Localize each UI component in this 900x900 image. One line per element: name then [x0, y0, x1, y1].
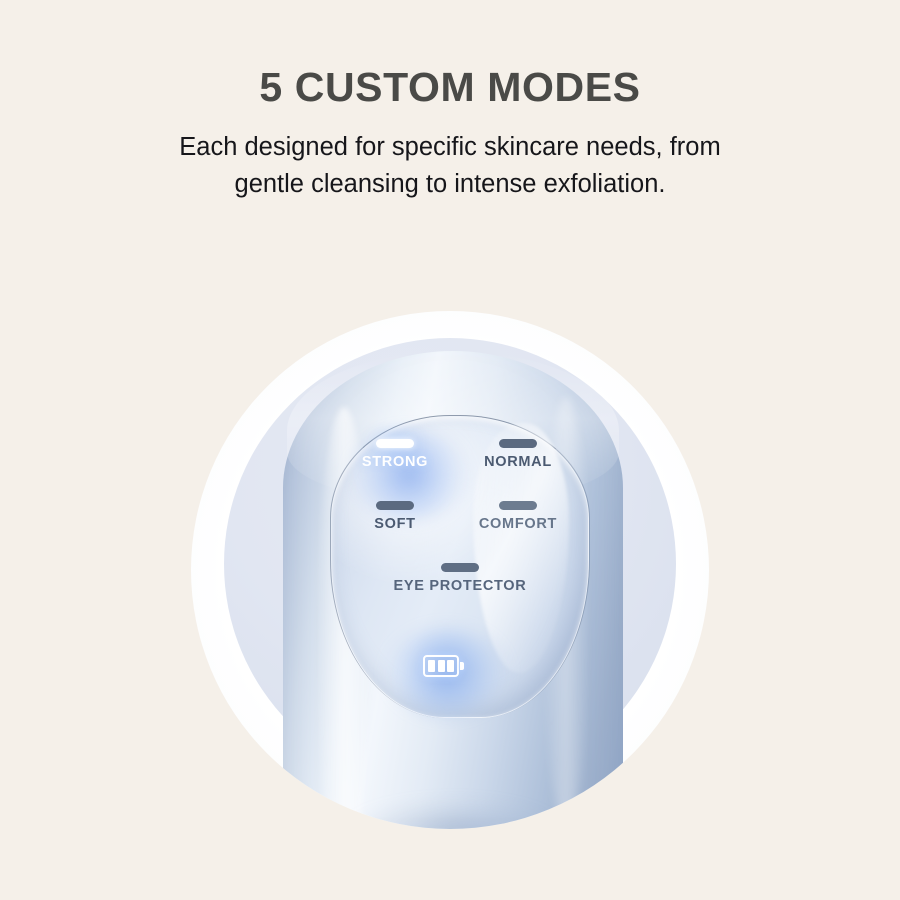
led-comfort-icon: [499, 501, 537, 510]
battery-bar-2: [438, 660, 445, 672]
battery-full-icon: [423, 655, 467, 679]
led-strong-icon: [376, 439, 414, 448]
device-clip-mask: STRONG NORMAL SOFT COMFORT EYE PROTECTOR: [191, 311, 709, 829]
battery-bar-1: [428, 660, 435, 672]
mode-indicator-comfort[interactable]: COMFORT: [443, 501, 593, 532]
led-normal-icon: [499, 439, 537, 448]
mode-indicator-eye-protector[interactable]: EYE PROTECTOR: [353, 563, 567, 594]
battery-level-bars: [428, 660, 454, 672]
mode-label-eye-protector: EYE PROTECTOR: [353, 578, 567, 594]
mode-label-comfort: COMFORT: [443, 516, 593, 532]
led-eye-protector-icon: [441, 563, 479, 572]
product-hero-stage: STRONG NORMAL SOFT COMFORT EYE PROTECTOR: [0, 0, 900, 900]
battery-terminal-nub: [460, 662, 464, 670]
led-soft-icon: [376, 501, 414, 510]
battery-bar-3: [447, 660, 454, 672]
mode-label-normal: NORMAL: [443, 454, 593, 470]
product-feature-page: 5 CUSTOM MODES Each designed for specifi…: [0, 0, 900, 900]
mode-indicator-normal[interactable]: NORMAL: [443, 439, 593, 470]
